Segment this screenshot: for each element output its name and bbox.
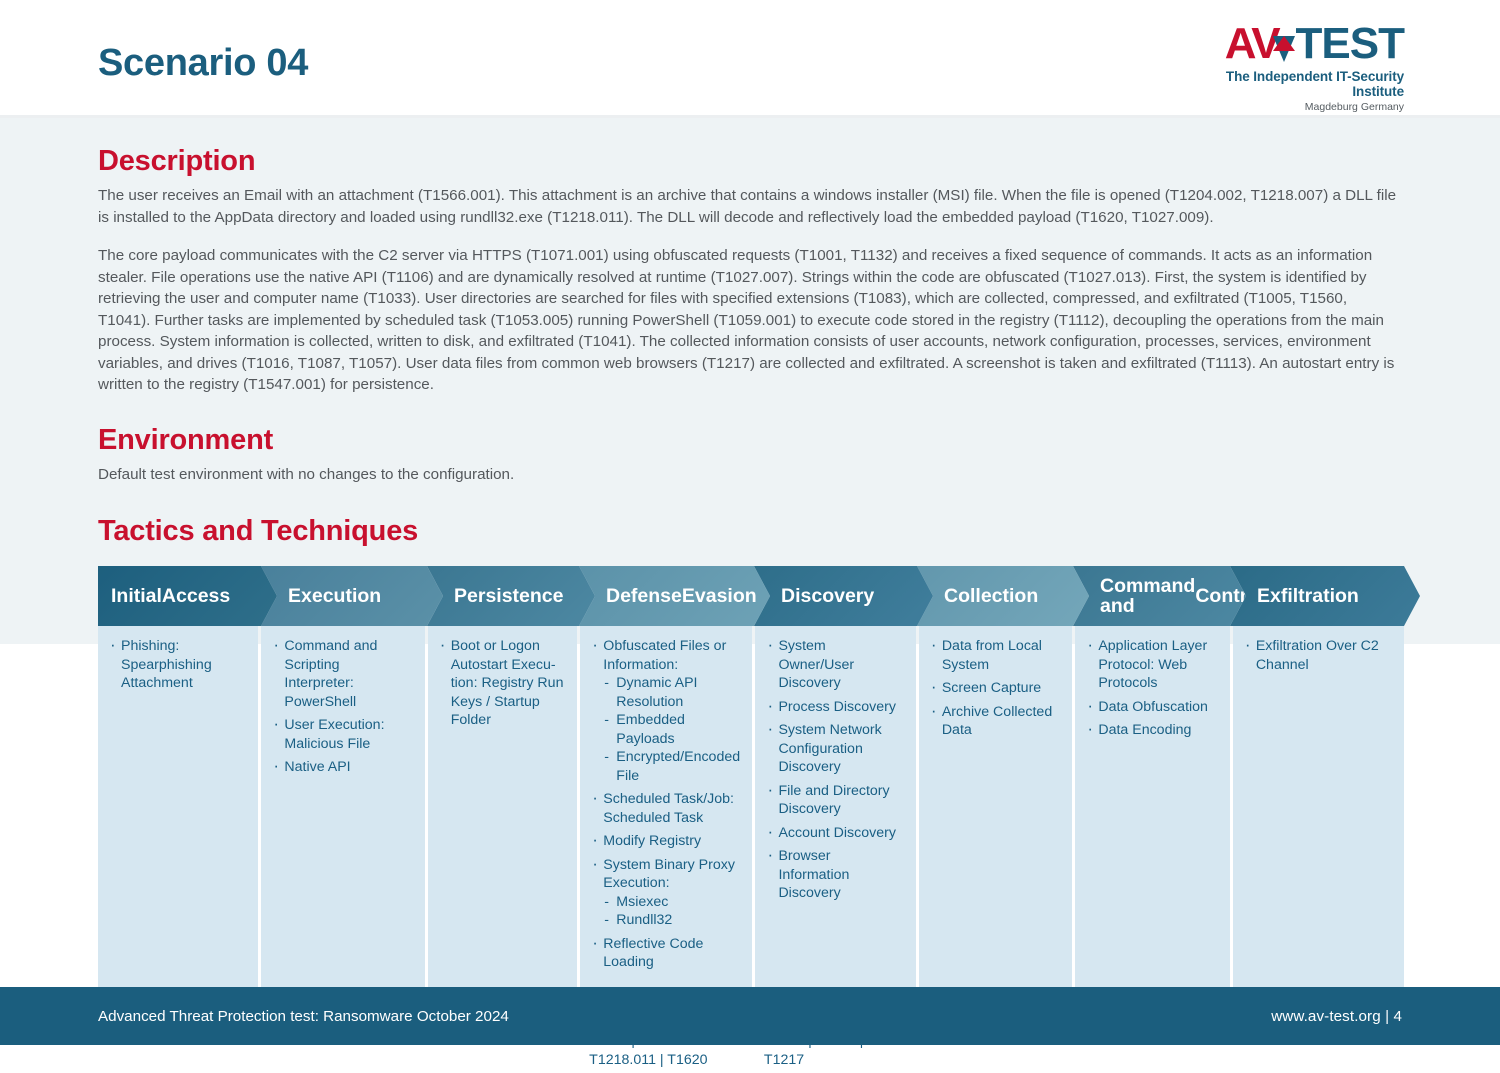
technique-item: Screen Capture <box>929 679 1061 698</box>
logo-wordmark: AV TEST <box>1192 22 1404 66</box>
tactic-header-discovery[interactable]: Discovery <box>754 566 933 626</box>
tactic-header-label: Execution <box>288 586 381 606</box>
logo-city: Magdeburg Germany <box>1192 101 1404 113</box>
tactic-header-exfiltration[interactable]: Exfiltration <box>1230 566 1420 626</box>
technique-item: Archive Collected Data <box>929 703 1061 740</box>
description-paragraph-1: The user receives an Email with an attac… <box>98 185 1402 228</box>
technique-list: Data from Local SystemScreen CaptureArch… <box>929 637 1061 977</box>
tactic-column-collection: Data from Local SystemScreen CaptureArch… <box>919 626 1073 987</box>
technique-item: Data Encoding <box>1085 721 1217 740</box>
tactic-column-persistence: Boot or Logon Autostart Execu­tion: Regi… <box>428 626 578 987</box>
logo-test-text: TEST <box>1296 22 1404 66</box>
technique-sublist: Dynamic API ResolutionEmbedded PayloadsE… <box>603 674 740 785</box>
logo-tagline: The Independent IT-Security Institute <box>1192 69 1404 99</box>
technique-list: Obfuscated Files or Information:Dynamic … <box>590 637 740 977</box>
technique-list: System Owner/User DiscoveryProcess Disco… <box>765 637 903 977</box>
tactic-column-initial-access: Phishing: Spearphishing Attachment <box>98 626 258 987</box>
technique-item: Account Discovery <box>765 824 903 843</box>
technique-item: Reflective Code Loading <box>590 935 740 972</box>
environment-text: Default test environment with no changes… <box>98 464 1402 486</box>
tactic-header-label: Collection <box>944 586 1038 606</box>
tactic-header-command-and-control[interactable]: Command andControl <box>1073 566 1246 626</box>
tactic-header-label: Defense <box>606 586 682 606</box>
technique-item: Command and Scrip­ting Interpreter: Powe… <box>271 637 412 711</box>
technique-subitem: Encrypted/Encoded File <box>603 748 740 785</box>
technique-item: Scheduled Task/Job: Scheduled Task <box>590 790 740 827</box>
tactic-header-label: Initial <box>111 586 162 606</box>
tactic-header-label: Command and <box>1100 576 1195 616</box>
tactic-column-discovery: System Owner/User DiscoveryProcess Disco… <box>755 626 915 987</box>
environment-heading: Environment <box>98 424 1402 457</box>
tactic-header-defense-evasion[interactable]: DefenseEvasion <box>579 566 770 626</box>
technique-item: System Binary Proxy Execution:MsiexecRun… <box>590 856 740 930</box>
technique-item: Native API <box>271 758 412 777</box>
tactic-header-initial-access[interactable]: InitialAccess <box>98 566 277 626</box>
technique-list: Application Layer Protocol: Web Protocol… <box>1085 637 1217 977</box>
page-header: Scenario 04 AV TEST The Independent IT-S… <box>0 0 1500 118</box>
tactic-header-label: Access <box>162 586 230 606</box>
technique-item: Data from Local System <box>929 637 1061 674</box>
tactic-header-collection[interactable]: Collection <box>917 566 1089 626</box>
technique-item: Process Discovery <box>765 698 903 717</box>
tactic-column-defense-evasion: Obfuscated Files or Information:Dynamic … <box>580 626 752 987</box>
main-content: Description The user receives an Email w… <box>0 118 1500 966</box>
tactic-header-label: Discovery <box>781 586 874 606</box>
technique-item: Application Layer Protocol: Web Protocol… <box>1085 637 1217 693</box>
tactic-header-label: Evasion <box>682 586 757 606</box>
footer-right-text: www.av-test.org | 4 <box>1271 1008 1402 1025</box>
technique-sublist: MsiexecRundll32 <box>603 893 740 930</box>
av-test-logo: AV TEST The Independent IT-Security Inst… <box>1192 22 1404 113</box>
logo-av-text: AV <box>1225 22 1279 66</box>
tactic-header-persistence[interactable]: Persistence <box>427 566 595 626</box>
tactic-header-label: Exfiltration <box>1257 586 1359 606</box>
technique-item: Browser Information Discovery <box>765 847 903 903</box>
tactic-header-execution[interactable]: Execution <box>261 566 443 626</box>
technique-item: Obfuscated Files or Information:Dynamic … <box>590 637 740 785</box>
technique-subitem: Dynamic API Resolution <box>603 674 740 711</box>
tactic-header-label: Persistence <box>454 586 564 606</box>
technique-list: Command and Scrip­ting Interpreter: Powe… <box>271 637 412 977</box>
technique-item: Data Obfuscation <box>1085 698 1217 717</box>
technique-subitem: Embedded Payloads <box>603 711 740 748</box>
technique-list: Boot or Logon Autostart Execu­tion: Regi… <box>438 637 566 977</box>
technique-subitem: Rundll32 <box>603 911 740 930</box>
tactics-heading: Tactics and Techniques <box>98 515 1402 548</box>
logo-triangle-icon <box>1273 36 1295 62</box>
technique-subitem: Msiexec <box>603 893 740 912</box>
technique-item: Modify Registry <box>590 832 740 851</box>
tactics-body-row: Phishing: Spearphishing AttachmentComman… <box>98 626 1404 987</box>
technique-item: Boot or Logon Autostart Execu­tion: Regi… <box>438 637 566 730</box>
tactics-header-row: InitialAccessExecutionPersistenceDefense… <box>98 566 1404 626</box>
footer-left-text: Advanced Threat Protection test: Ransomw… <box>98 1008 509 1025</box>
technique-list: Exfiltration Over C2 Channel <box>1243 637 1392 977</box>
tactic-column-command-and-control: Application Layer Protocol: Web Protocol… <box>1075 626 1229 987</box>
technique-item: System Owner/User Discovery <box>765 637 903 693</box>
description-heading: Description <box>98 118 1402 178</box>
technique-list: Phishing: Spearphishing Attachment <box>108 637 246 977</box>
page-title: Scenario 04 <box>98 42 308 85</box>
description-paragraph-2: The core payload communicates with the C… <box>98 245 1402 396</box>
technique-item: System Network Configuration Discovery <box>765 721 903 777</box>
page-footer: Advanced Threat Protection test: Ransomw… <box>0 987 1500 1045</box>
technique-item: User Execution: Malicious File <box>271 716 412 753</box>
technique-item: Phishing: Spearphishing Attachment <box>108 637 246 693</box>
tactic-column-execution: Command and Scrip­ting Interpreter: Powe… <box>261 626 424 987</box>
technique-item: File and Directory Discovery <box>765 782 903 819</box>
tactic-column-exfiltration: Exfiltration Over C2 Channel <box>1233 626 1404 987</box>
technique-item: Exfiltration Over C2 Channel <box>1243 637 1392 674</box>
